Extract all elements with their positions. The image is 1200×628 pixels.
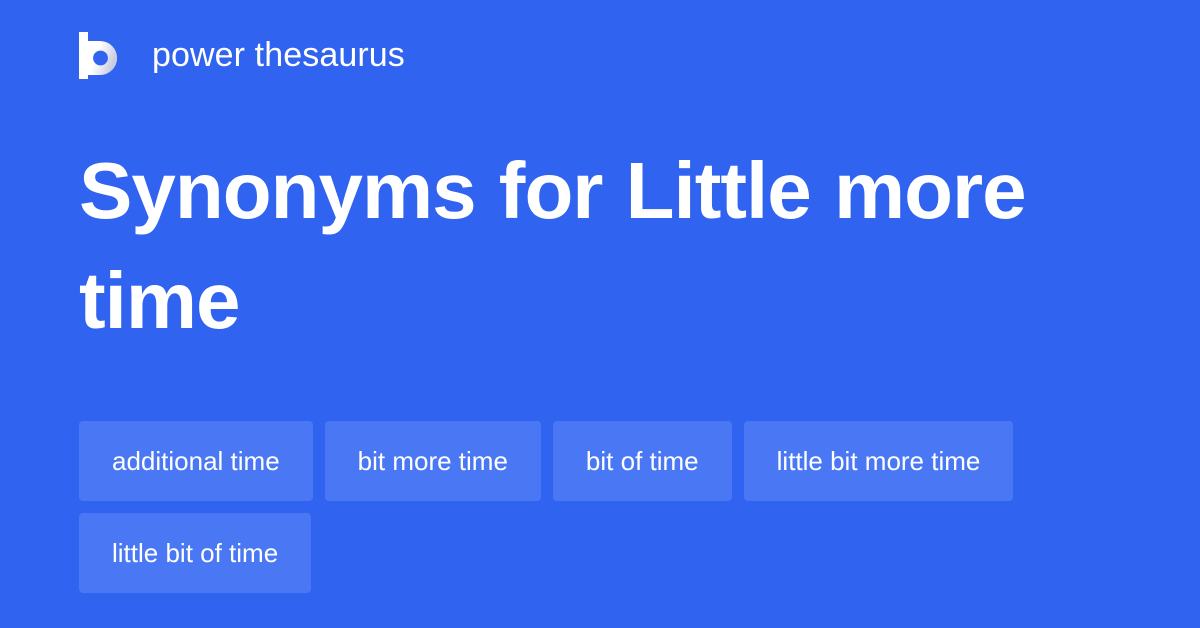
synonym-chip[interactable]: bit of time (553, 421, 732, 501)
synonym-chip[interactable]: little bit of time (79, 513, 311, 593)
synonym-chip[interactable]: additional time (79, 421, 313, 501)
synonym-chip[interactable]: little bit more time (744, 421, 1014, 501)
share-card: power thesaurus Synonyms for Little more… (0, 0, 1200, 628)
brand-name: power thesaurus (152, 35, 405, 75)
page-title: Synonyms for Little more time (79, 136, 1089, 356)
synonym-chip[interactable]: bit more time (325, 421, 541, 501)
synonym-chip-list: additional time bit more time bit of tim… (79, 421, 1129, 593)
power-thesaurus-b-logo-icon (79, 32, 123, 79)
brand-logo[interactable]: power thesaurus (79, 27, 405, 83)
